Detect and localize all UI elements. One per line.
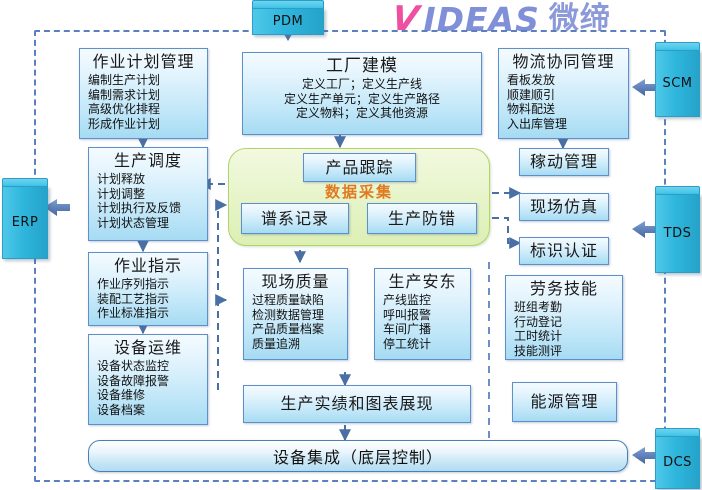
module-identification[interactable]: 标识认证 bbox=[519, 237, 609, 265]
list-item: 车间广播 bbox=[383, 322, 470, 337]
list-item: 高级优化排程 bbox=[88, 102, 207, 117]
module-utilization[interactable]: 稼动管理 bbox=[519, 148, 609, 176]
list-item: 定义生产单元；定义生产路径 bbox=[243, 92, 481, 107]
module-title: 能源管理 bbox=[530, 392, 598, 412]
module-title: 生产安东 bbox=[375, 269, 470, 292]
list-item: 停工统计 bbox=[383, 337, 470, 352]
external-system-erp[interactable]: ERP bbox=[2, 178, 48, 256]
module-item-list: 产线监控 呼叫报警 车间广播 停工统计 bbox=[375, 292, 470, 351]
tds-label: TDS bbox=[655, 194, 700, 273]
list-item: 看板发放 bbox=[507, 73, 628, 88]
module-equipment-ops[interactable]: 设备运维 设备状态监控 设备故障报警 设备维修 设备档案 bbox=[88, 334, 208, 425]
list-item: 设备故障报警 bbox=[97, 374, 207, 389]
core-node-product-tracking[interactable]: 产品跟踪 bbox=[303, 153, 416, 182]
list-item: 作业序列指示 bbox=[97, 277, 207, 292]
module-scheduling[interactable]: 生产调度 计划释放 计划调整 计划执行及反馈 计划状态管理 bbox=[88, 147, 208, 241]
module-title: 工厂建模 bbox=[243, 53, 481, 76]
list-item: 计划状态管理 bbox=[97, 216, 207, 231]
list-item: 行动登记 bbox=[514, 315, 622, 330]
node-title: 生产防错 bbox=[388, 209, 456, 229]
external-system-dcs[interactable]: DCS bbox=[655, 428, 700, 486]
list-item: 检测数据管理 bbox=[252, 308, 347, 323]
list-item: 编制需求计划 bbox=[88, 88, 207, 103]
list-item: 设备维修 bbox=[97, 388, 207, 403]
node-title: 谱系记录 bbox=[261, 209, 329, 229]
pdm-block-top bbox=[252, 0, 324, 8]
list-item: 物料配送 bbox=[507, 102, 628, 117]
module-plan-management[interactable]: 作业计划管理 编制生产计划 编制需求计划 高级优化排程 形成作业计划 bbox=[79, 48, 208, 139]
core-platform-caption: 数据采集 bbox=[228, 181, 490, 202]
list-item: 质量追溯 bbox=[252, 337, 347, 352]
module-title: 物流协同管理 bbox=[499, 49, 628, 72]
module-title: 现场仿真 bbox=[530, 197, 598, 217]
list-item: 计划释放 bbox=[97, 172, 207, 187]
erp-label: ERP bbox=[2, 186, 48, 259]
list-item: 设备状态监控 bbox=[97, 359, 207, 374]
module-title: 稼动管理 bbox=[530, 152, 598, 172]
tds-block-top bbox=[655, 186, 700, 194]
module-energy[interactable]: 能源管理 bbox=[512, 382, 617, 422]
list-item: 装配工艺指示 bbox=[97, 292, 207, 307]
module-simulation[interactable]: 现场仿真 bbox=[519, 193, 609, 221]
module-item-list: 班组考勤 行动登记 工时统计 技能测评 bbox=[506, 299, 622, 358]
module-performance-charts[interactable]: 生产实绩和图表展现 bbox=[243, 385, 471, 423]
list-item: 过程质量缺陷 bbox=[252, 293, 347, 308]
module-item-list: 设备状态监控 设备故障报警 设备维修 设备档案 bbox=[89, 358, 207, 417]
module-title: 生产调度 bbox=[89, 148, 207, 171]
module-title: 设备集成（底层控制） bbox=[273, 444, 443, 468]
core-node-error-proofing[interactable]: 生产防错 bbox=[367, 203, 477, 234]
dcs-label: DCS bbox=[655, 436, 700, 489]
module-item-list: 看板发放 顺建顺引 物料配送 入出库管理 bbox=[499, 72, 628, 131]
list-item: 技能测评 bbox=[514, 344, 622, 359]
module-factory-modeling[interactable]: 工厂建模 定义工厂；定义生产线 定义生产单元；定义生产路径 定义物料；定义其他资… bbox=[242, 52, 482, 135]
module-title: 劳务技能 bbox=[506, 276, 622, 299]
module-logistics[interactable]: 物流协同管理 看板发放 顺建顺引 物料配送 入出库管理 bbox=[498, 48, 629, 139]
module-title: 作业指示 bbox=[89, 253, 207, 276]
list-item: 产品质量档案 bbox=[252, 322, 347, 337]
list-item: 产线监控 bbox=[383, 293, 470, 308]
module-item-list: 作业序列指示 装配工艺指示 作业标准指示 bbox=[89, 276, 207, 321]
list-item: 计划执行及反馈 bbox=[97, 201, 207, 216]
module-item-list: 编制生产计划 编制需求计划 高级优化排程 形成作业计划 bbox=[80, 72, 207, 131]
scm-label: SCM bbox=[655, 50, 700, 117]
module-title: 设备运维 bbox=[89, 335, 207, 358]
module-item-list: 定义工厂；定义生产线 定义生产单元；定义生产路径 定义物料；定义其他资源 bbox=[243, 76, 481, 121]
module-title: 现场质量 bbox=[244, 269, 347, 292]
module-title: 标识认证 bbox=[530, 241, 598, 261]
external-system-scm[interactable]: SCM bbox=[655, 42, 700, 114]
list-item: 作业标准指示 bbox=[97, 306, 207, 321]
list-item: 顺建顺引 bbox=[507, 88, 628, 103]
list-item: 班组考勤 bbox=[514, 300, 622, 315]
list-item: 编制生产计划 bbox=[88, 73, 207, 88]
list-item: 定义物料；定义其他资源 bbox=[243, 106, 481, 121]
module-work-instruction[interactable]: 作业指示 作业序列指示 装配工艺指示 作业标准指示 bbox=[88, 252, 208, 326]
module-item-list: 计划释放 计划调整 计划执行及反馈 计划状态管理 bbox=[89, 171, 207, 230]
diagram-canvas: VIDEAS微缔 bbox=[0, 0, 702, 490]
external-system-pdm[interactable]: PDM bbox=[252, 0, 324, 32]
list-item: 入出库管理 bbox=[507, 117, 628, 132]
module-field-quality[interactable]: 现场质量 过程质量缺陷 检测数据管理 产品质量档案 质量追溯 bbox=[243, 268, 348, 360]
list-item: 形成作业计划 bbox=[88, 117, 207, 132]
core-node-genealogy[interactable]: 谱系记录 bbox=[241, 203, 349, 234]
list-item: 定义工厂；定义生产线 bbox=[243, 77, 481, 92]
dcs-block-top bbox=[655, 428, 700, 436]
module-item-list: 过程质量缺陷 检测数据管理 产品质量档案 质量追溯 bbox=[244, 292, 347, 351]
module-title: 生产实绩和图表展现 bbox=[280, 394, 433, 414]
list-item: 计划调整 bbox=[97, 187, 207, 202]
list-item: 工时统计 bbox=[514, 329, 622, 344]
module-equipment-integration[interactable]: 设备集成（底层控制） bbox=[88, 440, 628, 472]
pdm-label: PDM bbox=[252, 8, 324, 35]
module-title: 作业计划管理 bbox=[80, 49, 207, 72]
list-item: 设备档案 bbox=[97, 403, 207, 418]
scm-block-top bbox=[655, 42, 700, 50]
node-title: 产品跟踪 bbox=[325, 158, 393, 178]
module-andon[interactable]: 生产安东 产线监控 呼叫报警 车间广播 停工统计 bbox=[374, 268, 471, 360]
external-system-tds[interactable]: TDS bbox=[655, 186, 700, 270]
list-item: 呼叫报警 bbox=[383, 308, 470, 323]
erp-block-top bbox=[2, 178, 48, 186]
module-labor-skill[interactable]: 劳务技能 班组考勤 行动登记 工时统计 技能测评 bbox=[505, 275, 623, 360]
